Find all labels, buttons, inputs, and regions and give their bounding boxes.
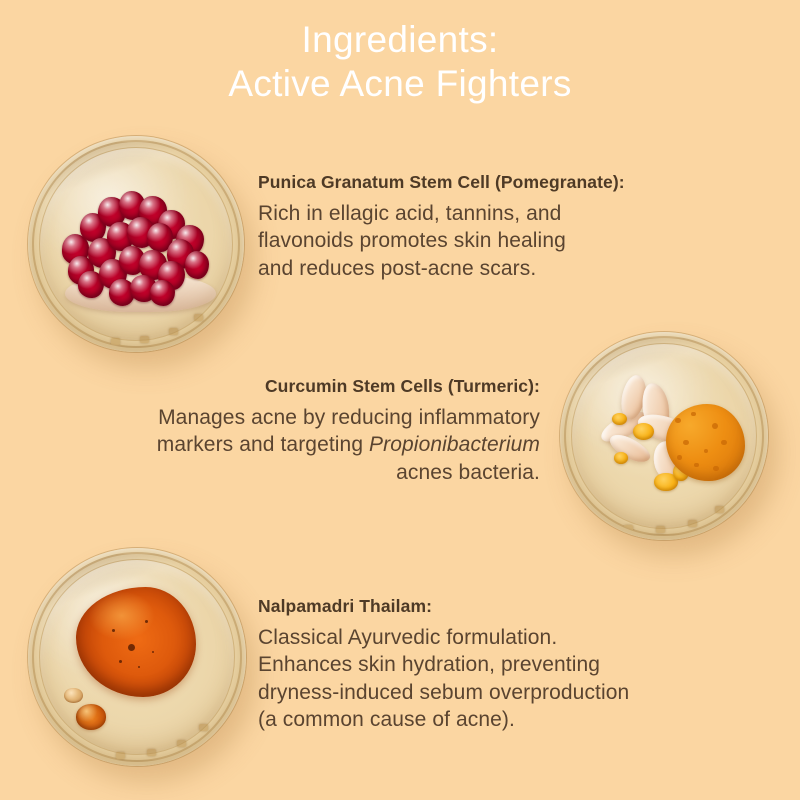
page-title-line-2: Active Acne Fighters [0,62,800,106]
page-title-line-1: Ingredients: [0,18,800,62]
ingredient-heading-turmeric: Curcumin Stem Cells (Turmeric): [40,376,540,397]
petri-dish-nalpamadri-oil [28,548,246,766]
body-line: Classical Ayurvedic formulation. [258,624,738,651]
ingredient-block-pomegranate: Punica Granatum Stem Cell (Pomegranate):… [258,172,678,282]
turmeric-powder-mound [666,404,745,481]
petri-dish-turmeric [560,332,768,540]
ingredient-heading-nalpamadri: Nalpamadri Thailam: [258,596,738,617]
oil-main-blob [76,587,196,697]
body-line: flavonoids promotes skin healing [258,227,678,254]
scientific-name: Propionibacterium [369,433,540,456]
petri-dish-pomegranate [28,136,244,352]
oil-medium-droplet [76,704,107,729]
oil-small-droplet [64,688,82,703]
body-line: acnes bacteria. [40,459,540,486]
ingredient-block-nalpamadri: Nalpamadri Thailam: Classical Ayurvedic … [258,596,738,733]
body-line: Manages acne by reducing inflammatory [40,404,540,431]
ingredient-block-turmeric: Curcumin Stem Cells (Turmeric): Manages … [40,376,540,486]
amber-oil-droplet-petri-dish [67,587,207,735]
ingredient-body-nalpamadri: Classical Ayurvedic formulation. Enhance… [258,624,738,733]
page-title: Ingredients: Active Acne Fighters [0,18,800,105]
body-line: Rich in ellagic acid, tannins, and [258,200,678,227]
ingredient-body-pomegranate: Rich in ellagic acid, tannins, and flavo… [258,200,678,282]
body-line: and reduces post-acne scars. [258,255,678,282]
pomegranate-arils-petri-dish [58,184,222,305]
body-line: Enhances skin hydration, preventing [258,651,738,678]
ingredient-body-turmeric: Manages acne by reducing inflammatory ma… [40,404,540,486]
body-line: (a common cause of acne). [258,706,738,733]
turmeric-root-powder-petri-dish [593,369,739,502]
body-line: dryness-induced sebum overproduction [258,679,738,706]
ingredient-heading-pomegranate: Punica Granatum Stem Cell (Pomegranate): [258,172,678,193]
body-line: markers and targeting Propionibacterium [40,431,540,458]
